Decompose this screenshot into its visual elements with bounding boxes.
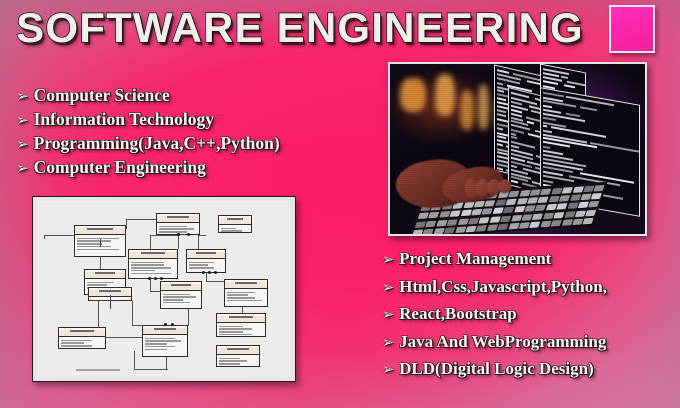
uml-class-attributes xyxy=(219,225,251,234)
list-item: ➢ Programming(Java,C++,Python) xyxy=(16,132,280,156)
uml-connector xyxy=(150,235,178,236)
uml-class-name xyxy=(225,282,267,289)
uml-class-name xyxy=(129,252,177,259)
uml-connector xyxy=(126,219,156,220)
bullet-list-left: ➢ Computer Science ➢ Information Technol… xyxy=(16,84,280,180)
uml-class-attributes xyxy=(225,289,267,304)
bullet-list-right: ➢ Project Management ➢ Html,Css,Javascri… xyxy=(382,246,607,384)
arrow-bullet-icon: ➢ xyxy=(382,302,394,329)
uml-connector xyxy=(188,309,189,325)
arrow-bullet-icon: ➢ xyxy=(382,357,394,384)
uml-class-box xyxy=(58,327,106,349)
uml-class-attributes xyxy=(129,259,177,276)
arrow-bullet-icon: ➢ xyxy=(16,133,29,156)
accent-square-decoration xyxy=(609,5,655,53)
photo-grain-overlay xyxy=(390,64,645,234)
uml-caption xyxy=(76,369,120,371)
uml-connector xyxy=(198,235,199,249)
uml-connector-endpoint xyxy=(187,233,190,236)
uml-class-box xyxy=(142,325,188,357)
uml-class-box xyxy=(216,313,266,337)
list-item: ➢ Html,Css,Javascript,Python, xyxy=(382,274,607,302)
list-item: ➢ Computer Science xyxy=(16,84,280,108)
uml-class-name xyxy=(161,284,201,291)
list-item: ➢ Project Management xyxy=(382,246,607,274)
list-item: ➢ Computer Engineering xyxy=(16,156,280,180)
uml-class-name xyxy=(219,218,251,225)
uml-class-attributes xyxy=(187,259,225,271)
uml-diagram-canvas xyxy=(38,201,290,377)
arrow-bullet-icon: ➢ xyxy=(16,85,29,108)
list-item: ➢ Java And WebProgramming xyxy=(382,329,607,357)
uml-connector xyxy=(132,301,133,325)
uml-connector xyxy=(176,325,188,326)
coding-photo xyxy=(388,62,647,236)
uml-connector xyxy=(44,235,74,236)
uml-connector xyxy=(134,351,135,369)
uml-connector-endpoint xyxy=(164,323,167,326)
list-item-label: React,Bootstrap xyxy=(399,301,517,328)
uml-connector xyxy=(150,279,151,291)
uml-connector-endpoint xyxy=(148,277,151,280)
uml-class-name xyxy=(217,316,265,323)
uml-connector xyxy=(100,257,101,269)
uml-class-box xyxy=(224,279,268,307)
uml-class-box xyxy=(216,345,260,367)
uml-connector xyxy=(242,307,243,313)
list-item: ➢ DLD(Digital Logic Design) xyxy=(382,356,607,384)
list-item-label: Java And WebProgramming xyxy=(399,329,606,356)
uml-connector-endpoint xyxy=(208,271,211,274)
uml-class-name xyxy=(157,216,199,223)
list-item: ➢ React,Bootstrap xyxy=(382,301,607,329)
uml-connector xyxy=(206,281,224,282)
arrow-bullet-icon: ➢ xyxy=(16,157,29,180)
presentation-slide: SOFTWARE ENGINEERING ➢ Computer Science … xyxy=(0,0,680,408)
uml-connector-endpoint xyxy=(202,271,205,274)
uml-class-name xyxy=(75,228,125,235)
uml-connector xyxy=(110,301,111,309)
list-item-label: Programming(Java,C++,Python) xyxy=(34,132,280,155)
uml-connector xyxy=(198,235,206,236)
list-item-label: Project Management xyxy=(399,246,551,273)
uml-connector-endpoint xyxy=(154,277,157,280)
uml-connector-endpoint xyxy=(214,271,217,274)
list-item-label: Computer Engineering xyxy=(34,156,206,179)
uml-class-box xyxy=(218,215,252,233)
uml-connector xyxy=(106,337,142,338)
arrow-bullet-icon: ➢ xyxy=(382,330,394,357)
list-item-label: Information Technology xyxy=(34,108,214,131)
uml-class-name xyxy=(85,272,125,279)
uml-connector-endpoint xyxy=(160,277,163,280)
uml-class-box xyxy=(156,213,200,235)
coding-photo-content xyxy=(390,64,645,234)
list-item-label: Computer Science xyxy=(34,84,170,107)
uml-connector xyxy=(188,325,189,326)
uml-class-name xyxy=(143,328,187,335)
uml-connector xyxy=(206,273,207,281)
uml-connector xyxy=(150,291,160,292)
uml-class-attributes xyxy=(217,323,265,338)
uml-class-name xyxy=(59,330,105,337)
uml-class-attributes xyxy=(161,291,201,306)
uml-class-name xyxy=(187,252,225,259)
uml-class-box xyxy=(128,249,178,279)
uml-connector xyxy=(126,219,127,229)
list-item: ➢ Information Technology xyxy=(16,108,280,132)
uml-connector xyxy=(178,235,179,249)
uml-class-attributes xyxy=(217,355,259,367)
list-item-label: Html,Css,Javascript,Python, xyxy=(399,274,607,301)
uml-connector xyxy=(98,301,99,327)
uml-connector xyxy=(150,235,151,249)
uml-connector xyxy=(98,327,99,328)
uml-connector-endpoint xyxy=(177,233,180,236)
arrow-bullet-icon: ➢ xyxy=(16,109,29,132)
uml-class-attributes xyxy=(59,337,105,349)
uml-connector xyxy=(134,369,168,370)
uml-connector xyxy=(100,239,101,247)
uml-class-diagram xyxy=(32,196,296,382)
uml-class-attributes xyxy=(143,335,187,352)
list-item-label: DLD(Digital Logic Design) xyxy=(399,356,594,383)
uml-connector xyxy=(44,235,45,239)
arrow-bullet-icon: ➢ xyxy=(382,275,394,302)
uml-connector xyxy=(166,357,167,369)
page-title: SOFTWARE ENGINEERING xyxy=(0,3,600,53)
arrow-bullet-icon: ➢ xyxy=(382,247,394,274)
uml-class-box xyxy=(186,249,226,273)
uml-class-name xyxy=(217,348,259,355)
uml-connector xyxy=(132,325,144,326)
uml-connector-endpoint xyxy=(171,323,174,326)
uml-class-box xyxy=(160,281,202,309)
